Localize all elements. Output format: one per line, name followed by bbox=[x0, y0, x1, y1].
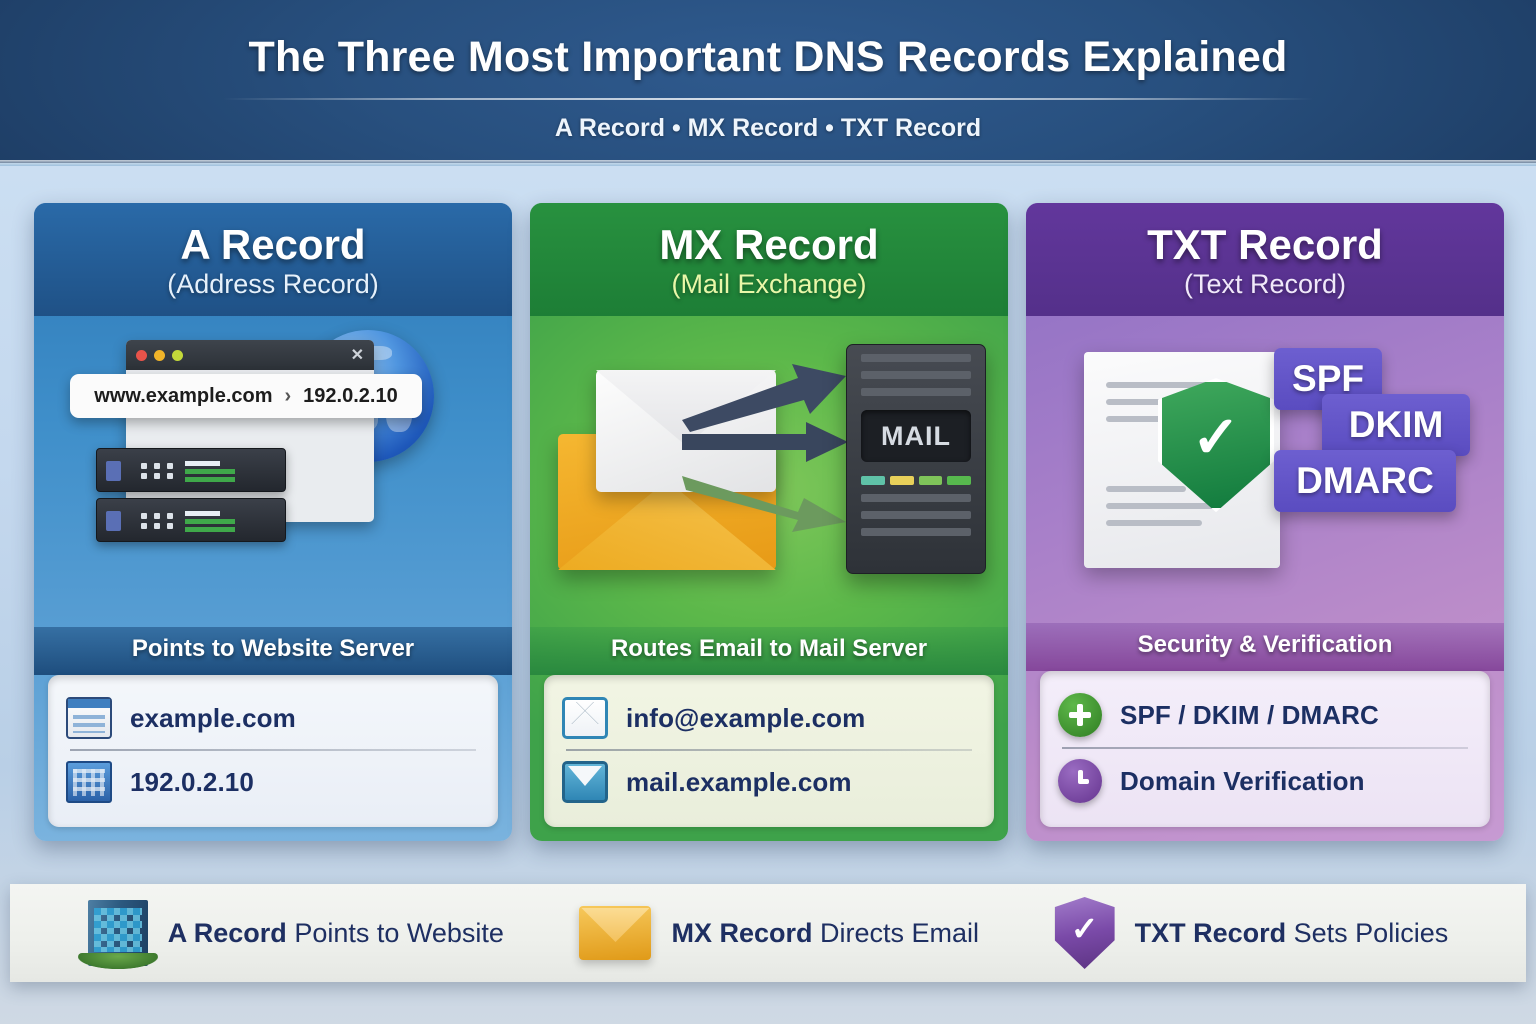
card-mx-title: MX Record bbox=[540, 223, 998, 267]
card-mx-subtitle: (Mail Exchange) bbox=[540, 269, 998, 300]
list-item[interactable]: mail.example.com bbox=[562, 753, 976, 811]
card-txt-header: TXT Record (Text Record) bbox=[1026, 203, 1504, 316]
card-txt-record[interactable]: TXT Record (Text Record) ✓ SPF DKIM DMAR… bbox=[1026, 203, 1504, 841]
status-chips bbox=[861, 476, 971, 485]
url-ip: 192.0.2.10 bbox=[303, 385, 398, 408]
summary-footer: A Record Points to Website MX Record Dir… bbox=[10, 884, 1526, 982]
footer-bold: TXT Record bbox=[1135, 918, 1287, 948]
card-a-artwork: ✕ www.example.com › 192.0.2.10 bbox=[34, 316, 512, 627]
card-txt-subtitle: (Text Record) bbox=[1036, 269, 1494, 300]
list-item-label: SPF / DKIM / DMARC bbox=[1120, 700, 1379, 731]
list-item-label: 192.0.2.10 bbox=[130, 767, 254, 798]
url-host: www.example.com bbox=[94, 385, 272, 408]
footer-item-a-record: A Record Points to Website bbox=[88, 900, 504, 966]
list-item-label: example.com bbox=[130, 703, 296, 734]
browser-titlebar: ✕ bbox=[126, 340, 374, 370]
close-dot-icon bbox=[136, 350, 147, 361]
address-bar[interactable]: www.example.com › 192.0.2.10 bbox=[70, 374, 422, 418]
clock-circle-icon bbox=[1058, 759, 1102, 803]
server-building-icon bbox=[66, 761, 112, 803]
card-a-detail-panel: example.com 192.0.2.10 bbox=[48, 675, 498, 827]
header-banner: The Three Most Important DNS Records Exp… bbox=[0, 0, 1536, 166]
server-unit bbox=[96, 448, 286, 492]
chevron-right-icon: › bbox=[285, 385, 292, 408]
badge-dmarc[interactable]: DMARC bbox=[1274, 450, 1456, 512]
card-a-header: A Record (Address Record) bbox=[34, 203, 512, 316]
page-title: The Three Most Important DNS Records Exp… bbox=[0, 33, 1536, 82]
divider bbox=[566, 749, 972, 751]
card-mx-artwork: MAIL bbox=[530, 316, 1008, 627]
card-txt-detail-panel: SPF / DKIM / DMARC Domain Verification bbox=[1040, 671, 1490, 827]
list-item-label: info@example.com bbox=[626, 703, 865, 734]
divider bbox=[70, 749, 476, 751]
list-item-label: mail.example.com bbox=[626, 767, 852, 798]
footer-rest: Points to Website bbox=[287, 918, 504, 948]
building-icon bbox=[88, 900, 148, 966]
infographic-root: The Three Most Important DNS Records Exp… bbox=[0, 0, 1536, 1024]
mail-server-label: MAIL bbox=[861, 410, 971, 462]
badge-dkim[interactable]: DKIM bbox=[1322, 394, 1470, 456]
minimize-dot-icon bbox=[154, 350, 165, 361]
footer-rest: Directs Email bbox=[813, 918, 980, 948]
divider bbox=[1062, 747, 1468, 749]
list-item[interactable]: example.com bbox=[66, 689, 480, 747]
footer-label: TXT Record Sets Policies bbox=[1135, 918, 1449, 949]
footer-bold: A Record bbox=[168, 918, 287, 948]
arrow-right-icon bbox=[680, 420, 850, 464]
maximize-dot-icon bbox=[172, 350, 183, 361]
footer-item-mx-record: MX Record Directs Email bbox=[579, 906, 979, 960]
mail-server-icon: MAIL bbox=[846, 344, 986, 574]
card-txt-artwork: ✓ SPF DKIM DMARC bbox=[1026, 316, 1504, 623]
envelope-icon bbox=[562, 697, 608, 739]
list-item[interactable]: 192.0.2.10 bbox=[66, 753, 480, 811]
server-stack-icon bbox=[96, 448, 286, 548]
card-a-purpose: Points to Website Server bbox=[34, 627, 512, 675]
card-mx-header: MX Record (Mail Exchange) bbox=[530, 203, 1008, 316]
list-item[interactable]: Domain Verification bbox=[1058, 751, 1472, 811]
footer-item-txt-record: ✓ TXT Record Sets Policies bbox=[1055, 897, 1449, 969]
page-subtitle: A Record • MX Record • TXT Record bbox=[0, 114, 1536, 143]
card-txt-title: TXT Record bbox=[1036, 223, 1494, 267]
header-divider bbox=[223, 98, 1313, 100]
footer-bold: MX Record bbox=[671, 918, 812, 948]
card-mx-record[interactable]: MX Record (Mail Exchange) MAIL bbox=[530, 203, 1008, 841]
footer-label: A Record Points to Website bbox=[168, 918, 504, 949]
envelope-icon bbox=[579, 906, 651, 960]
server-unit bbox=[96, 498, 286, 542]
footer-rest: Sets Policies bbox=[1286, 918, 1448, 948]
shield-check-icon: ✓ bbox=[1055, 897, 1115, 969]
card-a-record[interactable]: A Record (Address Record) ✕ bbox=[34, 203, 512, 841]
list-item[interactable]: SPF / DKIM / DMARC bbox=[1058, 685, 1472, 745]
record-cards: A Record (Address Record) ✕ bbox=[34, 203, 1504, 841]
card-a-title: A Record bbox=[44, 223, 502, 267]
list-item[interactable]: info@example.com bbox=[562, 689, 976, 747]
card-txt-purpose: Security & Verification bbox=[1026, 623, 1504, 671]
webpage-icon bbox=[66, 697, 112, 739]
arrow-down-icon bbox=[680, 472, 850, 534]
footer-label: MX Record Directs Email bbox=[671, 918, 979, 949]
mailbox-icon bbox=[562, 761, 608, 803]
card-mx-detail-panel: info@example.com mail.example.com bbox=[544, 675, 994, 827]
plus-circle-icon bbox=[1058, 693, 1102, 737]
check-glyph: ✓ bbox=[1192, 409, 1241, 467]
card-a-subtitle: (Address Record) bbox=[44, 269, 502, 300]
list-item-label: Domain Verification bbox=[1120, 766, 1365, 797]
close-icon[interactable]: ✕ bbox=[351, 345, 364, 365]
card-mx-purpose: Routes Email to Mail Server bbox=[530, 627, 1008, 675]
